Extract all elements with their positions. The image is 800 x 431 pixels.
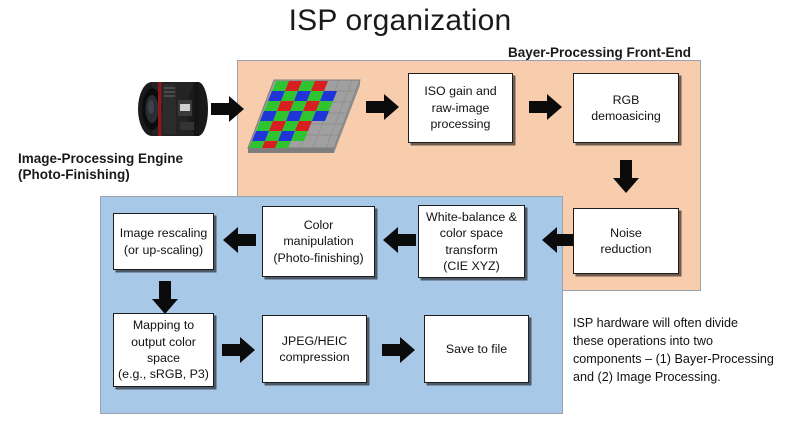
arrow-color-manipulation-to-rescaling (222, 227, 256, 253)
box-save-to-file[interactable]: Save to file (424, 315, 529, 383)
arrow-jpeg-to-save (382, 337, 416, 363)
box-jpeg-heic-compression[interactable]: JPEG/HEIC compression (262, 315, 367, 383)
label-image-processing-engine: Image-Processing Engine (Photo-Finishing… (18, 151, 183, 184)
box-rgb-demosaicing[interactable]: RGB demoasicing (573, 73, 679, 143)
arrow-output-color-space-to-jpeg (222, 337, 256, 363)
box-mapping-to-output-color-space[interactable]: Mapping to output color space (e.g., sRG… (113, 313, 214, 387)
caption-text: ISP hardware will often divide these ope… (573, 314, 791, 387)
arrow-demosaicing-to-noise (613, 160, 639, 194)
slide-canvas: ISP organization Bayer-Processing Front-… (0, 0, 800, 431)
label-bayer-processing-front-end: Bayer-Processing Front-End (508, 45, 691, 61)
arrow-iso-gain-to-demosaicing (529, 94, 563, 120)
camera-lens-icon (130, 78, 208, 140)
arrow-sensor-to-iso-gain (366, 94, 400, 120)
box-color-manipulation[interactable]: Color manipulation (Photo-finishing) (262, 206, 375, 277)
arrow-noise-to-white-balance (541, 227, 575, 253)
box-noise-reduction[interactable]: Noise reduction (573, 208, 679, 274)
arrow-rescaling-to-output-color-space (152, 281, 178, 315)
box-image-rescaling[interactable]: Image rescaling (or up-scaling) (113, 213, 214, 270)
bayer-color-filter-array-icon (246, 74, 362, 156)
box-white-balance-color-space-transform[interactable]: White-balance & color space transform (C… (418, 205, 525, 278)
box-iso-gain[interactable]: ISO gain and raw-image processing (408, 73, 513, 143)
page-title: ISP organization (0, 4, 800, 38)
arrow-white-balance-to-color-manipulation (382, 227, 416, 253)
arrow-lens-to-sensor (211, 96, 245, 122)
